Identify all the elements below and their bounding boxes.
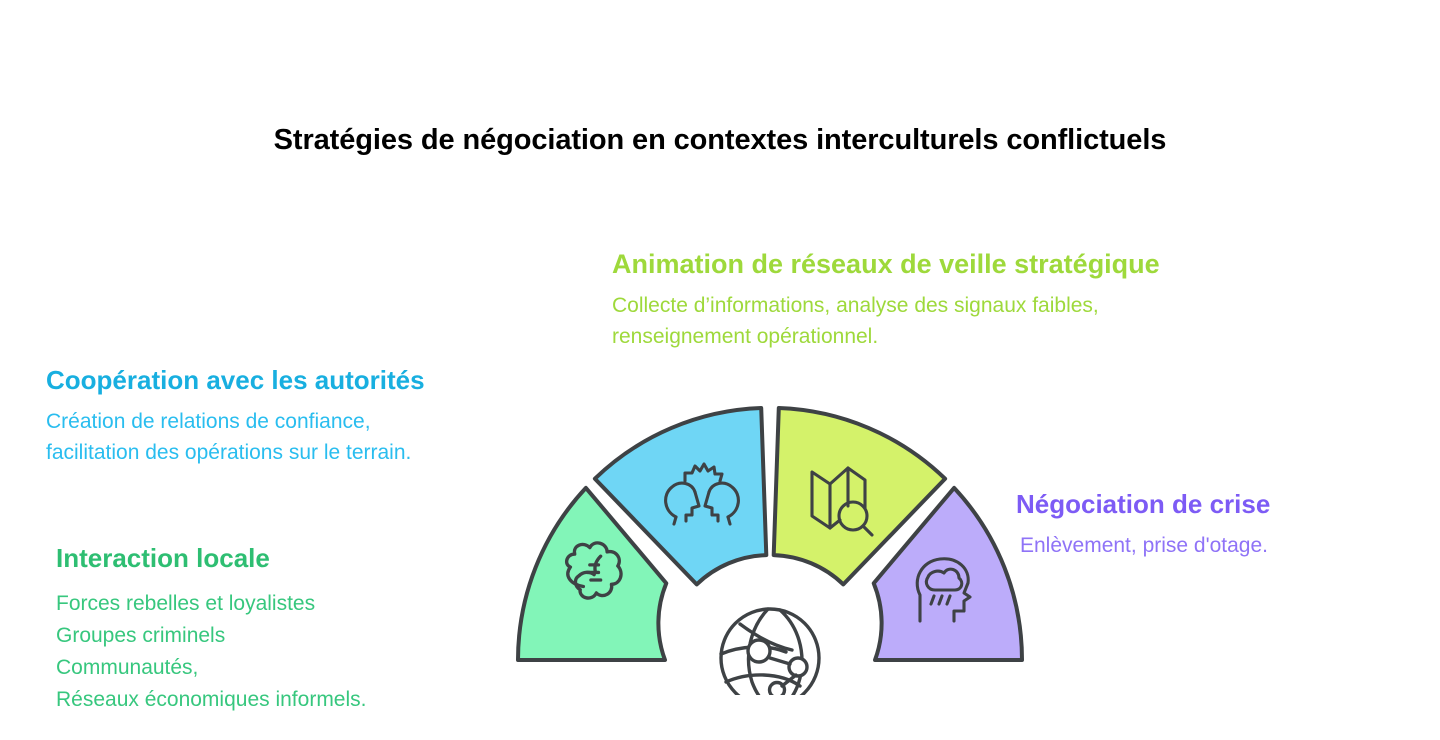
callout-veille-title: Animation de réseaux de veille stratégiq… bbox=[612, 248, 1272, 280]
callout-crise-body: Enlèvement, prise d'otage. bbox=[1020, 530, 1416, 561]
semicircle-diagram bbox=[490, 395, 1050, 695]
callout-veille-body: Collecte d’informations, analyse des sig… bbox=[612, 290, 1272, 352]
callout-negociation-crise: Négociation de crise Enlèvement, prise d… bbox=[1016, 489, 1416, 561]
callout-interaction-title: Interaction locale bbox=[56, 543, 526, 574]
page-title: Stratégies de négociation en contextes i… bbox=[0, 123, 1440, 158]
globe-network-icon bbox=[721, 609, 819, 695]
callout-crise-title: Négociation de crise bbox=[1016, 489, 1416, 520]
slide-canvas: Stratégies de négociation en contextes i… bbox=[0, 0, 1440, 740]
callout-veille-strategique: Animation de réseaux de veille stratégiq… bbox=[612, 248, 1272, 353]
callout-cooperation-body: Création de relations de confiance, faci… bbox=[46, 406, 566, 468]
callout-cooperation-autorites: Coopération avec les autorités Création … bbox=[46, 365, 566, 468]
callout-cooperation-title: Coopération avec les autorités bbox=[46, 365, 566, 396]
callout-interaction-locale: Interaction locale Forces rebelles et lo… bbox=[56, 543, 526, 716]
diagram-svg bbox=[490, 395, 1050, 695]
callout-interaction-body: Forces rebelles et loyalistes Groupes cr… bbox=[56, 588, 526, 716]
